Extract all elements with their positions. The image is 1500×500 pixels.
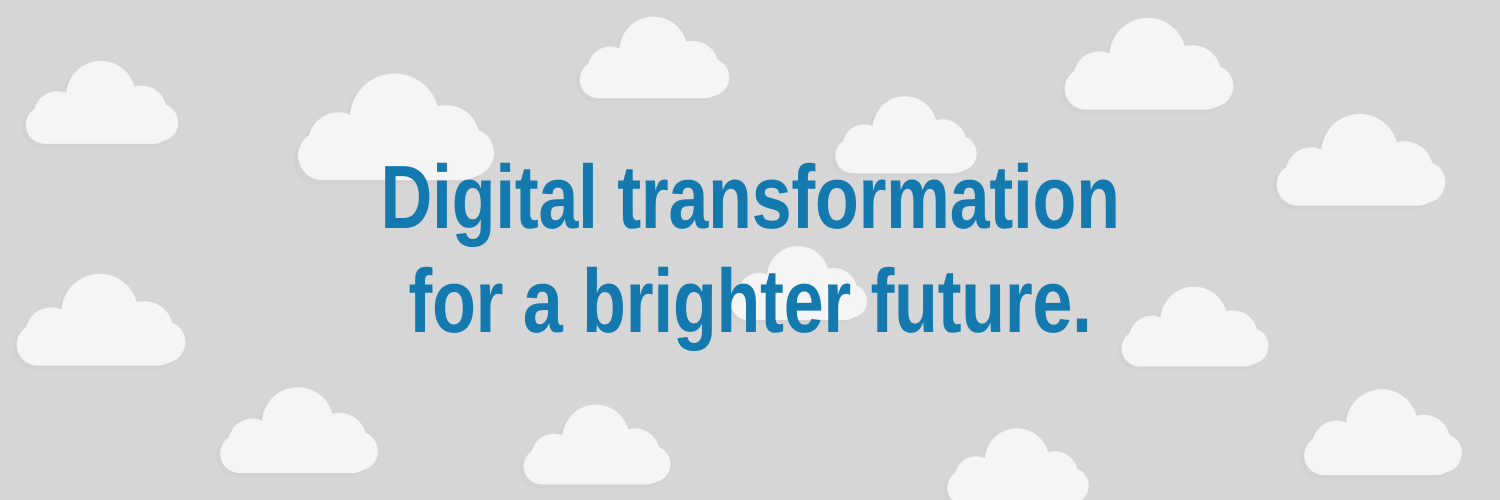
headline-block: Digital transformation for a brighter fu… bbox=[0, 0, 1500, 500]
hero-banner: Digital transformation for a brighter fu… bbox=[0, 0, 1500, 500]
headline-line-2: for a brighter future. bbox=[408, 257, 1091, 347]
headline-line-1: Digital transformation bbox=[380, 153, 1119, 243]
